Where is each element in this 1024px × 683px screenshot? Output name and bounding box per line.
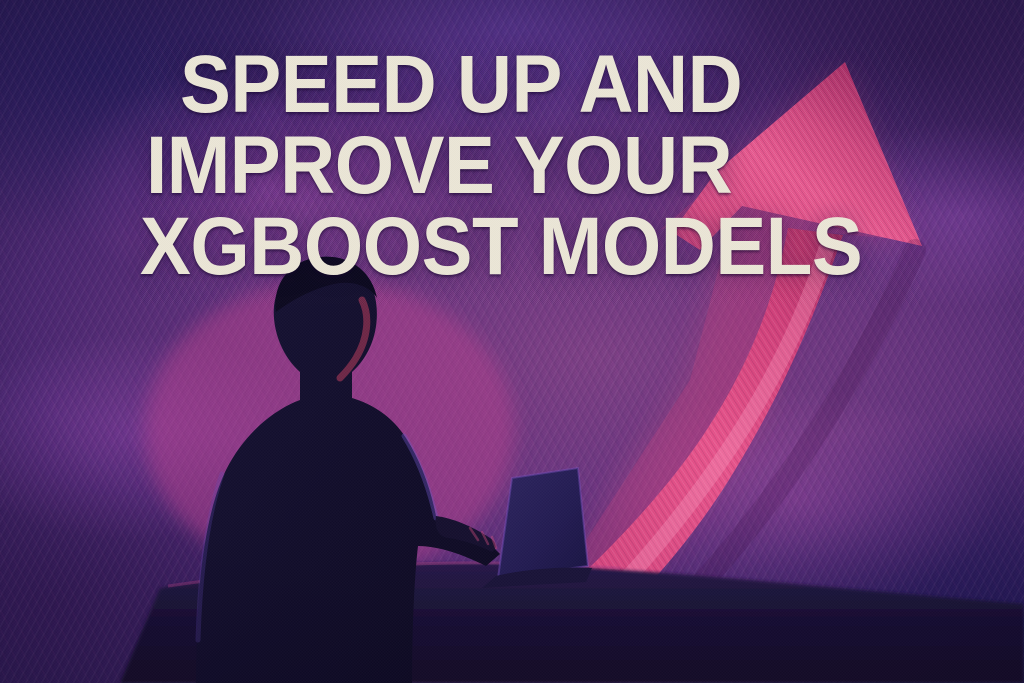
- headline-block: SPEED UP AND IMPROVE YOUR XGBOOST MODELS: [140, 44, 900, 288]
- headline-line-2: IMPROVE YOUR: [146, 125, 847, 206]
- headline-line-3: XGBOOST MODELS: [140, 206, 847, 287]
- poster-canvas: SPEED UP AND IMPROVE YOUR XGBOOST MODELS: [0, 0, 1024, 683]
- headline-line-1: SPEED UP AND: [180, 44, 850, 125]
